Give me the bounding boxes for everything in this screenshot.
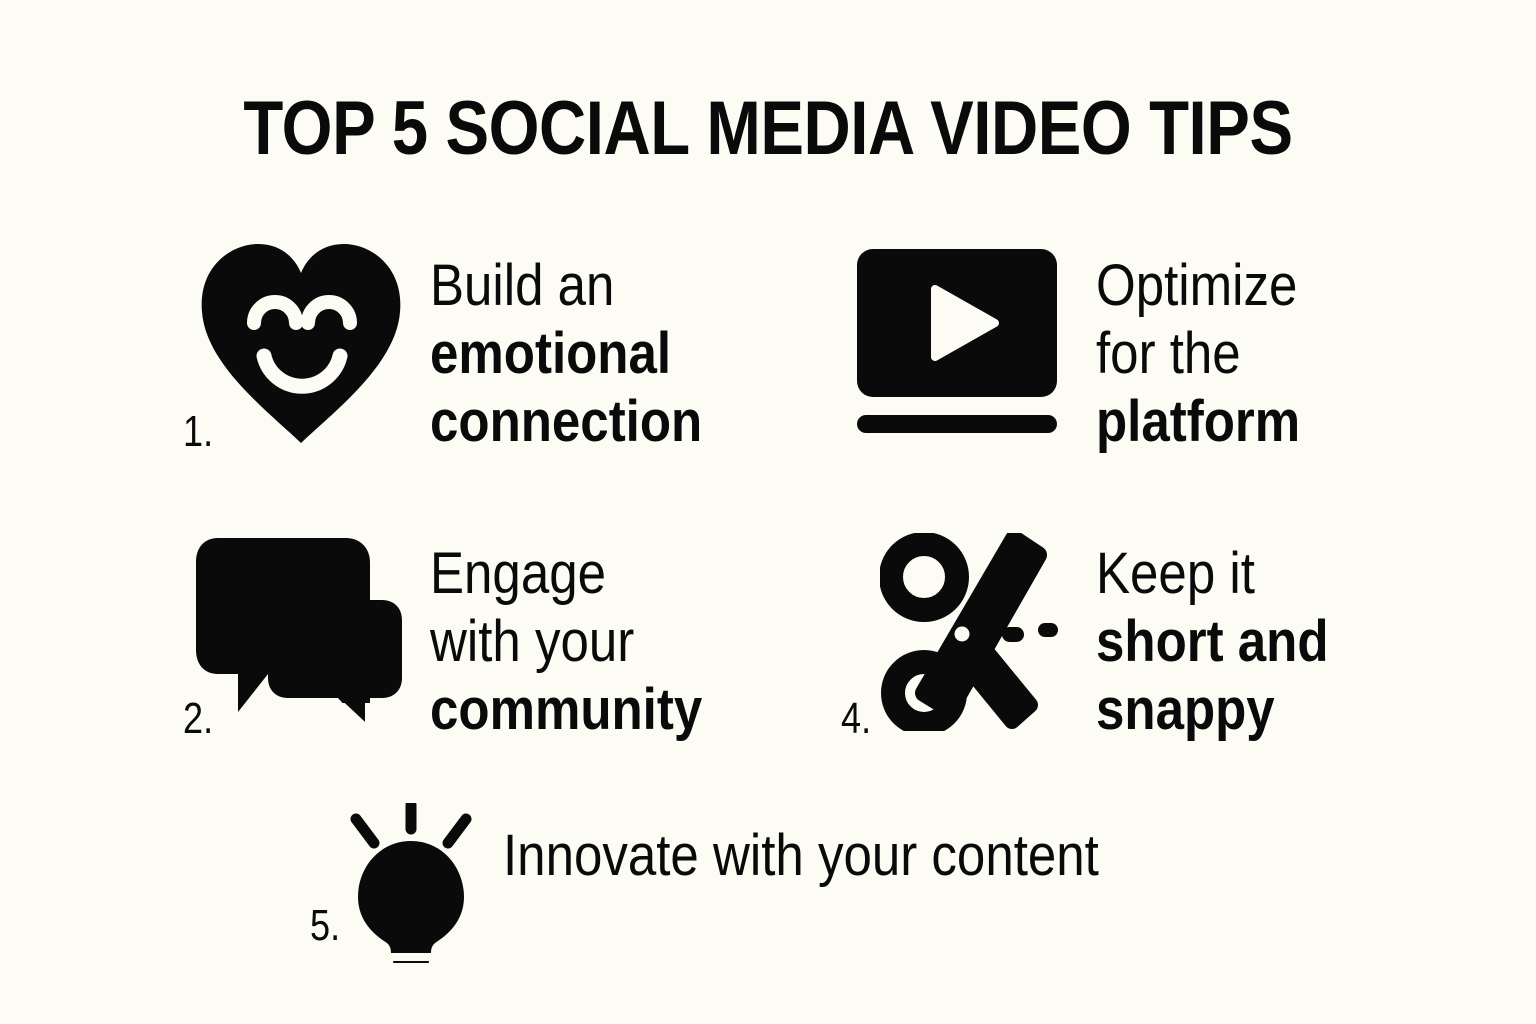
- lightbulb-icon: [338, 803, 484, 968]
- tip-text-5: Innovate with your content: [503, 822, 1099, 890]
- tip-number-5: 5.: [310, 904, 340, 948]
- tip-line: Innovate with your content: [503, 822, 1099, 890]
- tip-item-5: 5. Innovate with your content: [0, 0, 1536, 1024]
- infographic-poster: TOP 5 SOCIAL MEDIA VIDEO TIPS 1. Build a…: [0, 0, 1536, 1024]
